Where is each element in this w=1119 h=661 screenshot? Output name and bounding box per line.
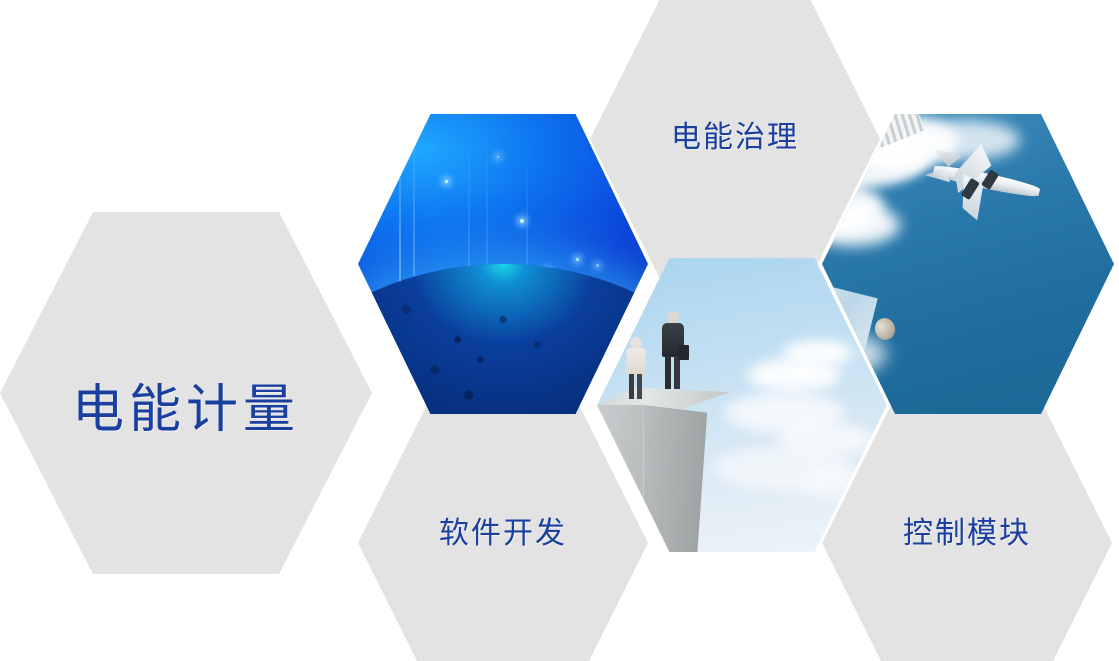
star-icon: [520, 219, 524, 223]
light-ray-icon: [399, 114, 401, 300]
star-icon: [445, 180, 448, 183]
briefcase-icon: [678, 345, 689, 360]
person-leg: [629, 374, 634, 399]
airplane-icon: [917, 128, 1057, 245]
hex-node-power-metering[interactable]: 电能计量: [0, 212, 372, 574]
star-icon: [576, 258, 579, 261]
star-icon: [497, 156, 499, 158]
hex-label-power-metering: 电能计量: [0, 367, 372, 442]
star-icon: [596, 264, 599, 267]
hex-label-software-development: 软件开发: [358, 508, 648, 552]
person-figure: [658, 311, 688, 391]
person-figure: [623, 337, 649, 401]
person-leg: [665, 356, 671, 389]
cloud-icon: [783, 340, 853, 366]
hex-label-control-module: 控制模块: [822, 508, 1112, 552]
hex-node-software-development[interactable]: 软件开发: [358, 398, 648, 661]
person-torso: [627, 348, 646, 375]
pillar-front-face: [643, 405, 707, 552]
person-leg: [674, 356, 680, 389]
hexagon-infographic: 电能计量 电能治理 软件开发 控制模块: [0, 0, 1119, 661]
light-ray-icon: [413, 114, 415, 276]
person-leg: [637, 374, 642, 399]
hex-label-power-governance: 电能治理: [590, 112, 880, 156]
satellite-dish-icon: [872, 315, 898, 342]
